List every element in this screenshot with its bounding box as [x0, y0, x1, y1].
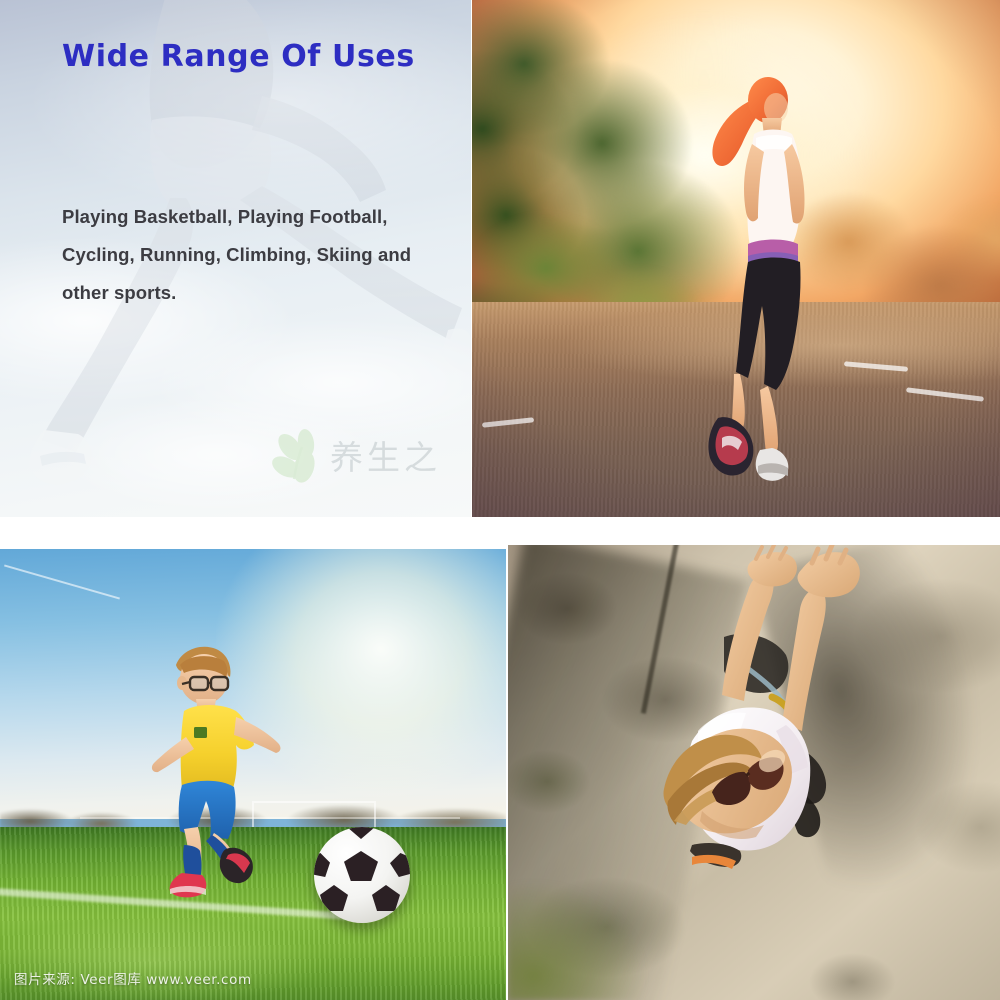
football-photo: 图片来源: Veer图库 www.veer.com [0, 549, 506, 1000]
ball-panel-left [314, 853, 330, 877]
ball-panel-bottom-left [320, 885, 348, 911]
ball-panel-center [344, 851, 378, 881]
climbing-photo [508, 545, 1000, 1000]
photo-vignette [472, 0, 1000, 517]
ball-panel-top [347, 827, 375, 839]
ball-panel-bottom-right [372, 885, 400, 911]
climber-figure [596, 545, 896, 965]
text-panel: Wide Range Of Uses Playing Basketball, P… [0, 0, 471, 517]
ball-panel-right [390, 853, 410, 877]
product-feature-image: Wide Range Of Uses Playing Basketball, P… [0, 0, 1000, 1000]
soccer-ball [314, 827, 410, 923]
boy-player-figure [140, 641, 300, 899]
body-copy: Playing Basketball, Playing Football, Cy… [62, 198, 457, 312]
text-block: Wide Range Of Uses Playing Basketball, P… [62, 40, 462, 75]
running-photo [472, 0, 1000, 517]
page-title: Wide Range Of Uses [62, 40, 462, 75]
